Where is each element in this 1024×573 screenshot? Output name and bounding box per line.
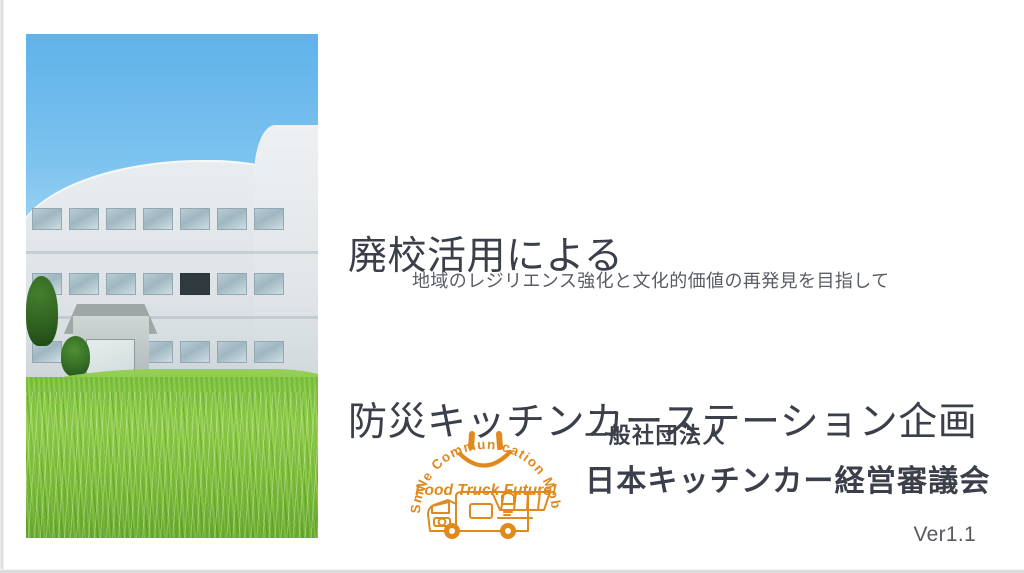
organization-name-block: 一般社団法人 日本キッチンカー経営審議会 — [585, 424, 991, 498]
photo-window — [254, 208, 284, 230]
photo-rice-blades — [26, 392, 318, 538]
title-slide: 廃校活用による 防災キッチンカーステーション企画 地域のレジリエンス強化と文化的… — [0, 0, 1024, 573]
photo-window-open — [180, 273, 210, 295]
page-edge-left — [0, 0, 4, 573]
photo-window — [106, 273, 136, 295]
slide-subtitle: 地域のレジリエンス強化と文化的価値の再発見を目指して — [412, 267, 890, 293]
photo-facade-band — [26, 251, 318, 254]
organization-name: 日本キッチンカー経営審議会 — [585, 465, 991, 498]
photo-window — [106, 208, 136, 230]
organization-logo: Smile Communication Mobility Food Truck … — [404, 392, 568, 542]
photo-window — [254, 341, 284, 363]
page-edge-bottom — [0, 569, 1024, 573]
photo-window — [217, 341, 247, 363]
photo-window-row — [32, 273, 318, 299]
school-building-photo — [26, 34, 318, 538]
organization-prefix: 一般社団法人 — [585, 424, 991, 448]
photo-shrub — [61, 336, 90, 376]
photo-window — [143, 273, 173, 295]
logo-tagline: Food Truck Future! — [415, 482, 557, 499]
photo-window — [69, 273, 99, 295]
photo-window — [32, 208, 62, 230]
photo-window — [180, 341, 210, 363]
photo-window — [180, 208, 210, 230]
photo-window-row — [32, 208, 318, 234]
photo-window — [217, 273, 247, 295]
photo-window — [217, 208, 247, 230]
photo-facade-band — [26, 316, 318, 319]
photo-window — [254, 273, 284, 295]
photo-window — [69, 208, 99, 230]
version-label: Ver1.1 — [700, 523, 976, 547]
photo-window — [143, 208, 173, 230]
photo-tree — [26, 276, 58, 347]
